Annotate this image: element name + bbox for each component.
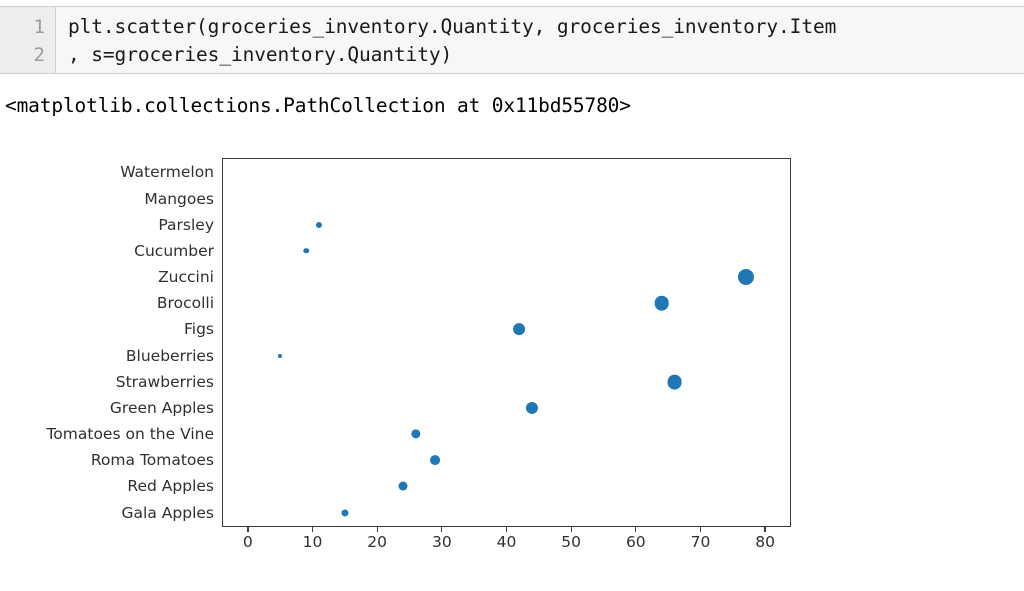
- y-tick-label: Watermelon: [120, 164, 214, 180]
- plot-axes-frame: [222, 158, 791, 527]
- line-number: 1: [34, 13, 55, 41]
- y-tick-label: Cucumber: [134, 243, 214, 259]
- y-tick-label: Green Apples: [110, 400, 214, 416]
- x-tick-mark: [506, 527, 507, 532]
- y-tick-label: Red Apples: [127, 478, 214, 494]
- x-tick-label: 50: [561, 534, 581, 550]
- scatter-point: [667, 374, 682, 389]
- scatter-point: [514, 323, 526, 335]
- x-tick-label: 10: [303, 534, 323, 550]
- y-tick-label: Roma Tomatoes: [91, 452, 214, 468]
- x-tick-mark: [764, 527, 765, 532]
- x-tick-label: 80: [755, 534, 775, 550]
- y-tick-label: Parsley: [158, 217, 214, 233]
- scatter-point: [654, 296, 669, 311]
- y-tick-label: Tomatoes on the Vine: [46, 426, 214, 442]
- scatter-point: [430, 455, 440, 465]
- x-tick-mark: [377, 527, 378, 532]
- x-tick-mark: [571, 527, 572, 532]
- y-tick-label: Zuccini: [158, 269, 214, 285]
- y-axis-tick-labels: WatermelonMangoesParsleyCucumberZucciniB…: [0, 158, 214, 527]
- x-tick-mark: [700, 527, 701, 532]
- code-line: , s=groceries_inventory.Quantity): [68, 41, 1024, 69]
- x-tick-mark: [247, 527, 248, 532]
- x-tick-label: 30: [432, 534, 452, 550]
- x-tick-mark: [635, 527, 636, 532]
- x-tick-label: 20: [367, 534, 387, 550]
- x-tick-label: 60: [626, 534, 646, 550]
- code-cell[interactable]: 1 2 plt.scatter(groceries_inventory.Quan…: [0, 6, 1024, 74]
- y-tick-label: Brocolli: [157, 295, 214, 311]
- x-tick-label: 0: [243, 534, 253, 550]
- y-tick-label: Blueberries: [126, 348, 214, 364]
- scatter-plot-figure: WatermelonMangoesParsleyCucumberZucciniB…: [0, 140, 1024, 591]
- x-tick-label: 40: [497, 534, 517, 550]
- y-tick-label: Gala Apples: [122, 505, 214, 521]
- scatter-point: [738, 269, 754, 285]
- y-tick-label: Mangoes: [144, 191, 214, 207]
- y-tick-label: Strawberries: [116, 374, 214, 390]
- code-line-number-gutter: 1 2: [0, 7, 56, 73]
- line-number: 2: [34, 41, 55, 69]
- y-tick-label: Figs: [184, 321, 214, 337]
- scatter-point: [399, 482, 408, 491]
- code-editor-body[interactable]: plt.scatter(groceries_inventory.Quantity…: [56, 7, 1024, 73]
- x-tick-label: 70: [691, 534, 711, 550]
- code-line: plt.scatter(groceries_inventory.Quantity…: [68, 13, 1024, 41]
- x-tick-mark: [312, 527, 313, 532]
- output-repr-text: <matplotlib.collections.PathCollection a…: [5, 93, 631, 119]
- x-tick-mark: [441, 527, 442, 532]
